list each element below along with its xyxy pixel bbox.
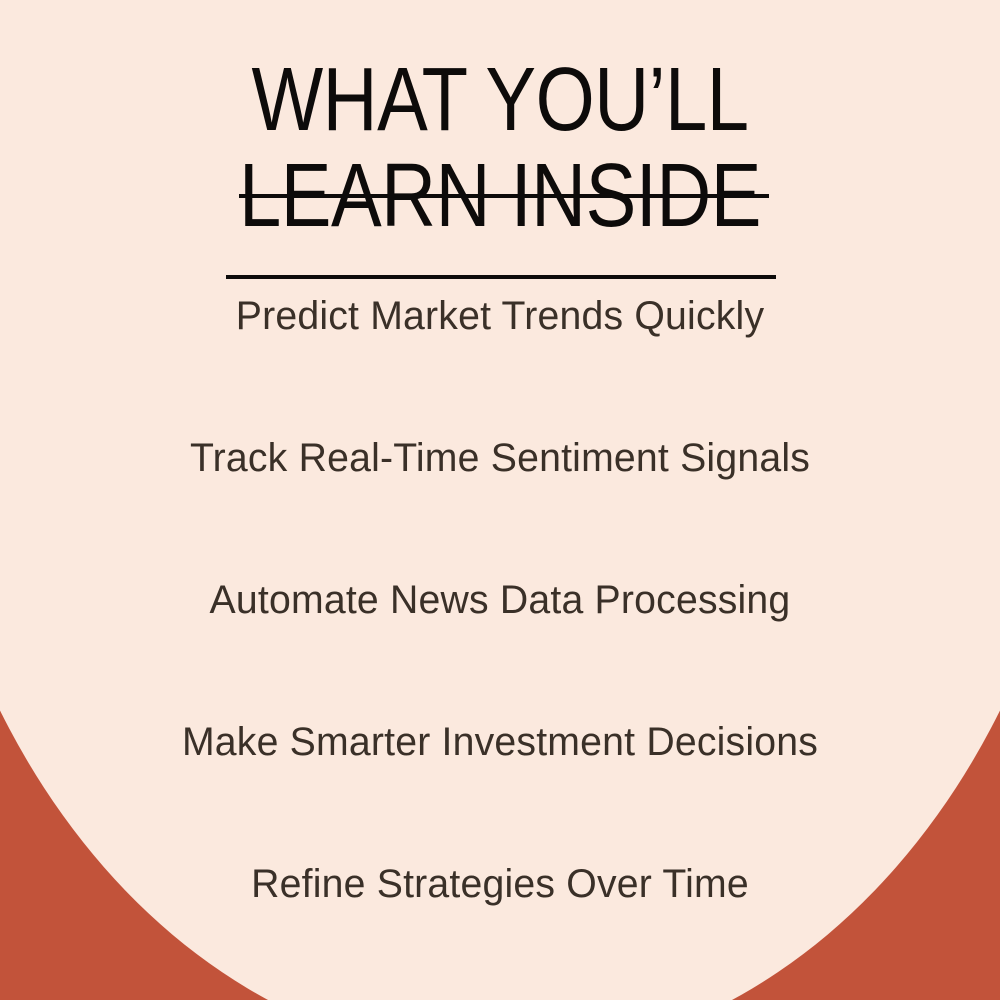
list-item: Refine Strategies Over Time xyxy=(10,860,990,1000)
list-item-label: Refine Strategies Over Time xyxy=(251,860,749,908)
list-item: Automate News Data Processing xyxy=(10,576,990,718)
list-item: Predict Market Trends Quickly xyxy=(10,292,990,434)
page-title-line-1: WHAT YOU’LL xyxy=(0,52,1000,149)
page-title-underline-2 xyxy=(226,275,776,279)
poster-content: WHAT YOU’LL LEARN INSIDE Predict Market … xyxy=(0,0,1000,1000)
list-item-label: Track Real-Time Sentiment Signals xyxy=(190,434,810,482)
poster-canvas: WHAT YOU’LL LEARN INSIDE Predict Market … xyxy=(0,0,1000,1000)
list-item: Track Real-Time Sentiment Signals xyxy=(10,434,990,576)
learn-list: Predict Market Trends Quickly Track Real… xyxy=(0,292,1000,1000)
list-item-label: Automate News Data Processing xyxy=(210,576,791,624)
list-item-label: Make Smarter Investment Decisions xyxy=(182,718,818,766)
page-title-underline-1 xyxy=(239,194,769,198)
list-item: Make Smarter Investment Decisions xyxy=(10,718,990,860)
page-title: WHAT YOU’LL LEARN INSIDE xyxy=(0,52,1000,216)
list-item-label: Predict Market Trends Quickly xyxy=(236,292,765,340)
